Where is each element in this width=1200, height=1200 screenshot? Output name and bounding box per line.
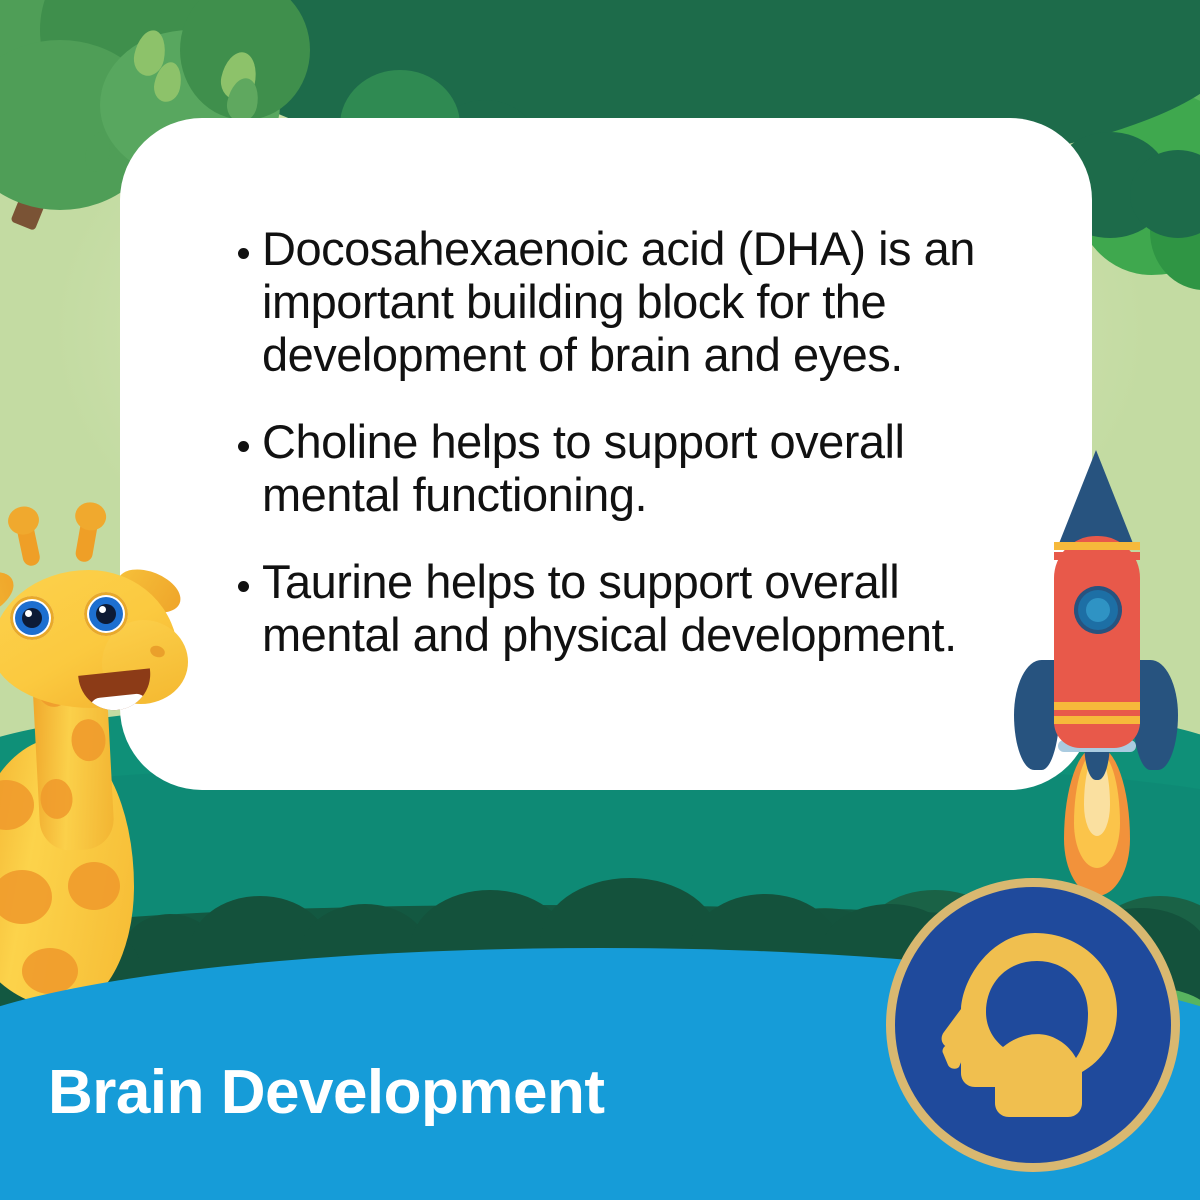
rocket-stripe: [1054, 702, 1140, 710]
rocket-stripe: [1054, 542, 1140, 550]
bullet-text: Taurine helps to support overall mental …: [262, 555, 962, 661]
giraffe-mouth: [78, 668, 154, 713]
giraffe-eye-right: [84, 592, 128, 636]
bullet-text: Docosahexaenoic acid (DHA) is an importa…: [262, 222, 1052, 381]
brain-badge: [895, 887, 1171, 1163]
list-item: Taurine helps to support overall mental …: [238, 555, 1052, 661]
giraffe-ossicone-left: [16, 521, 42, 568]
bullet-dot-icon: [238, 441, 249, 452]
giraffe-eye-left: [10, 596, 54, 640]
rocket-stripe: [1054, 552, 1140, 560]
giraffe-mascot: [0, 500, 234, 1020]
page-title: Brain Development: [48, 1062, 605, 1124]
rocket-icon: [1016, 450, 1176, 810]
bullet-list: Docosahexaenoic acid (DHA) is an importa…: [238, 222, 1052, 661]
rocket-stripe: [1054, 716, 1140, 724]
rocket-nose-cone: [1058, 450, 1134, 546]
slide-canvas: Docosahexaenoic acid (DHA) is an importa…: [0, 0, 1200, 1200]
giraffe-ossicone-right: [74, 517, 98, 563]
rocket-porthole: [1078, 590, 1118, 630]
bullet-dot-icon: [238, 248, 249, 259]
list-item: Choline helps to support overall mental …: [238, 415, 1052, 521]
content-card: Docosahexaenoic acid (DHA) is an importa…: [120, 118, 1092, 790]
bullet-text: Choline helps to support overall mental …: [262, 415, 1052, 521]
head-with-brain-icon: [939, 927, 1129, 1125]
list-item: Docosahexaenoic acid (DHA) is an importa…: [238, 222, 1052, 381]
bullet-dot-icon: [238, 581, 249, 592]
